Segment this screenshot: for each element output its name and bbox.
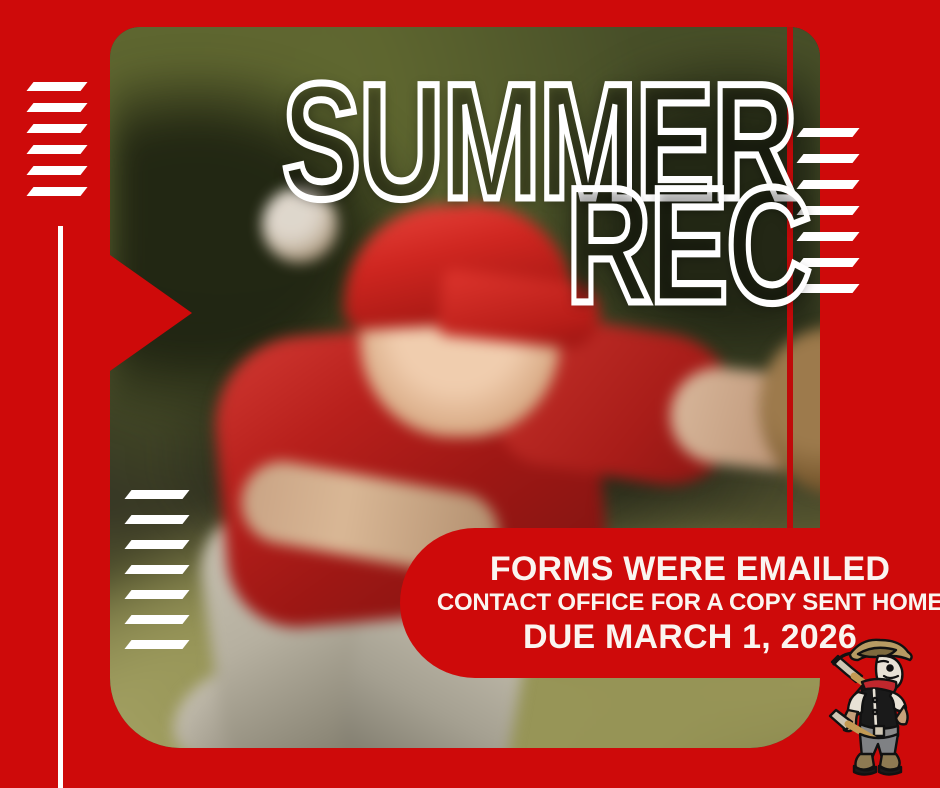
info-due-date: DUE MARCH 1, 2026 — [523, 619, 857, 655]
info-forms-emailed: FORMS WERE EMAILED — [490, 551, 890, 587]
diagonal-stripes-top-left — [30, 82, 84, 208]
info-contact-office: CONTACT OFFICE FOR A COPY SENT HOME — [437, 590, 940, 615]
photo-left-notch — [110, 255, 192, 371]
summer-rec-flyer: SUMMER REC FORMS WERE EMAILED CONTACT OF… — [0, 0, 940, 788]
photo-vertical-rule — [787, 27, 793, 567]
miner-mascot-icon — [822, 624, 926, 776]
miner-mascot-logo — [822, 624, 926, 776]
vertical-white-rule — [58, 226, 63, 788]
diagonal-stripes-bottom-left — [128, 490, 186, 665]
diagonal-stripes-right — [800, 128, 856, 310]
